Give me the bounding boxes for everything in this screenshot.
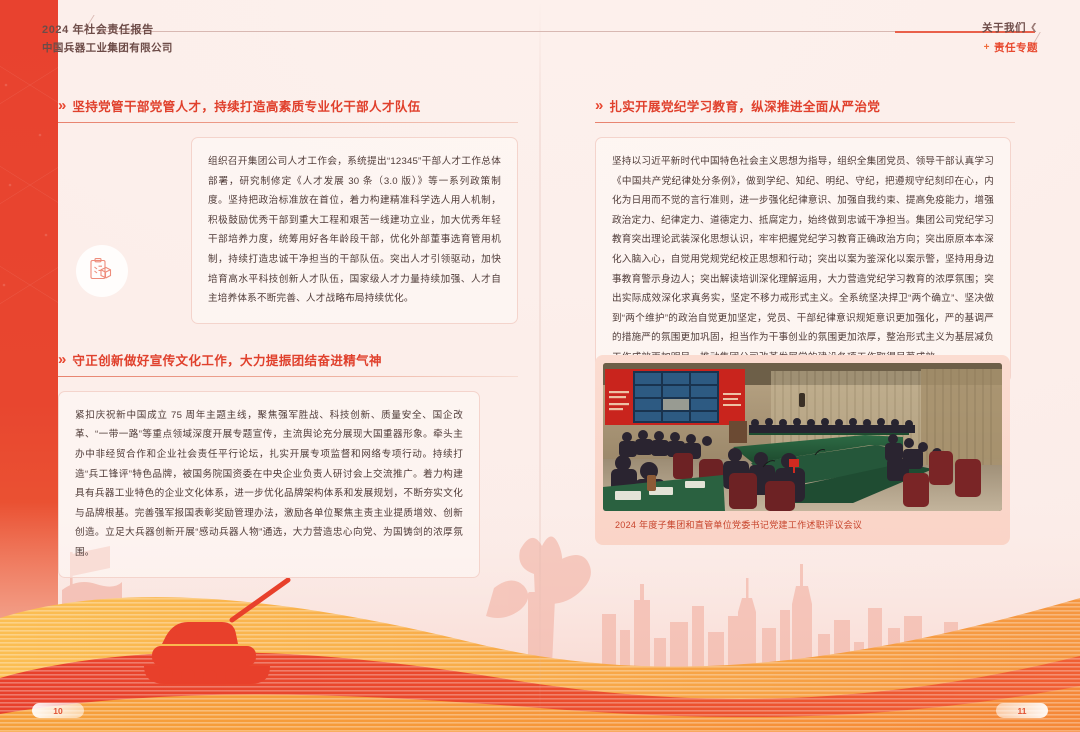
page-header: 2024 年社会责任报告 中国兵器工业集团有限公司 关于我们 ❮ + 责任专题 [0, 0, 1080, 70]
section-rule [595, 122, 1015, 123]
photo-figure: 2024 年度子集团和直管单位党委书记党建工作述职评议会议 [595, 355, 1010, 545]
section-rule [58, 376, 518, 377]
nav-topic-label: 责任专题 [994, 40, 1038, 55]
chevron-left-icon: ❮ [1030, 22, 1038, 33]
section-heading-discipline: » 扎实开展党纪学习教育，纵深推进全面从严治党 [595, 96, 1015, 123]
nav-about-label: 关于我们 [982, 20, 1026, 35]
section-body-text: 紧扣庆祝新中国成立 75 周年主题主线，聚焦强军胜战、科技创新、质量安全、国企改… [75, 406, 463, 563]
section-body-card-talent: 组织召开集团公司人才工作会，系统提出“12345”干部人才工作总体部署，研究制修… [191, 137, 518, 324]
section-body-card-discipline: 坚持以习近平新时代中国特色社会主义思想为指导，组织全集团党员、领导干部认真学习《… [595, 137, 1011, 383]
book-spine [539, 0, 541, 732]
conference-meeting-photo [603, 363, 1002, 511]
report-title: 2024 年社会责任报告 [42, 21, 154, 37]
section-title: 扎实开展党纪学习教育，纵深推进全面从严治党 [609, 96, 880, 115]
section-body-talent-wrap: 组织召开集团公司人才工作会，系统提出“12345”干部人才工作总体部署，研究制修… [191, 137, 518, 324]
report-spread: 2024 年社会责任报告 中国兵器工业集团有限公司 关于我们 ❮ + 责任专题 … [0, 0, 1080, 732]
section-title: 坚持党管干部党管人才，持续打造高素质专业化干部人才队伍 [72, 96, 420, 115]
photo-caption: 2024 年度子集团和直管单位党委书记党建工作述职评议会议 [603, 518, 1002, 531]
left-page-column: » 坚持党管干部党管人才，持续打造高素质专业化干部人才队伍 组织召开集团公司人才… [58, 96, 518, 578]
right-page-column: » 扎实开展党纪学习教育，纵深推进全面从严治党 坚持以习近平新时代中国特色社会主… [595, 96, 1015, 383]
section-body-card-culture: 紧扣庆祝新中国成立 75 周年主题主线，聚焦强军胜战、科技创新、质量安全、国企改… [58, 391, 480, 578]
section-heading-talent: » 坚持党管干部党管人才，持续打造高素质专业化干部人才队伍 [58, 96, 518, 123]
double-chevron-right-icon: » [595, 98, 600, 113]
page-number-left: 10 [32, 703, 84, 718]
page-number-right: 11 [996, 703, 1048, 718]
section-heading-culture: » 守正创新做好宣传文化工作，大力提振团结奋进精气神 [58, 350, 518, 377]
section-title: 守正创新做好宣传文化工作，大力提振团结奋进精气神 [72, 350, 382, 369]
section-body-text: 组织召开集团公司人才工作会，系统提出“12345”干部人才工作总体部署，研究制修… [208, 152, 501, 309]
clipboard-box-icon [76, 245, 128, 297]
section-rule [58, 122, 518, 123]
double-chevron-right-icon: » [58, 98, 63, 113]
double-chevron-right-icon: » [58, 352, 63, 367]
header-rule-left [100, 31, 940, 32]
company-name: 中国兵器工业集团有限公司 [42, 40, 173, 55]
nav-about-us[interactable]: 关于我们 ❮ [982, 20, 1038, 35]
nav-responsibility-topic[interactable]: + 责任专题 [984, 40, 1038, 55]
section-body-text: 坚持以习近平新时代中国特色社会主义思想为指导，组织全集团党员、领导干部认真学习《… [612, 152, 994, 368]
plus-icon: + [984, 42, 990, 53]
